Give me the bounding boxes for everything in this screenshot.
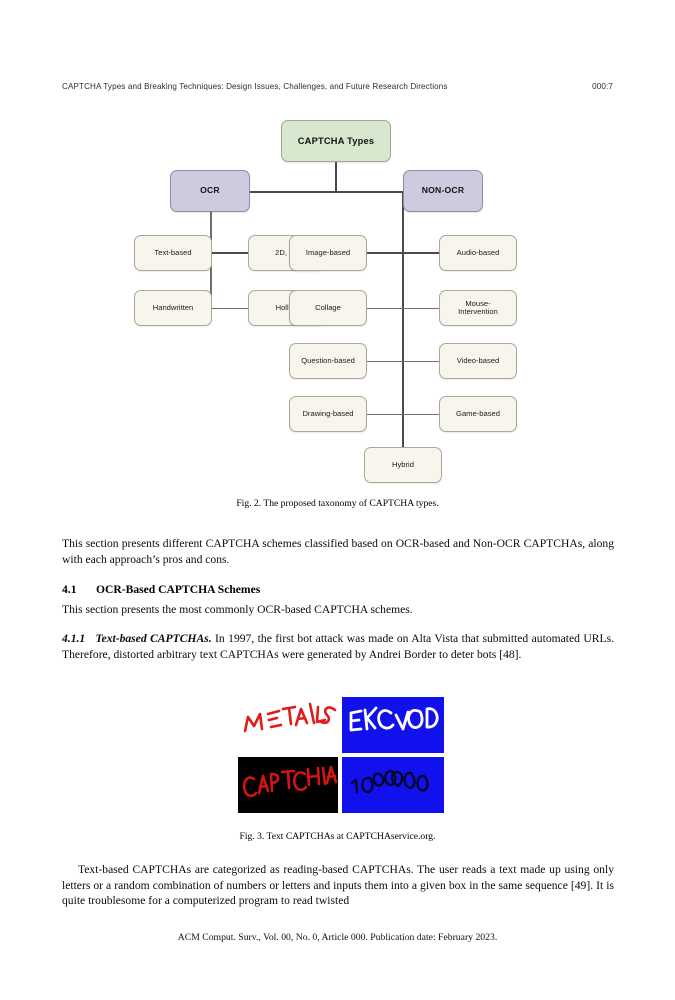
node-non-ocr[interactable]: NON-OCR bbox=[403, 170, 483, 212]
running-head-title: CAPTCHA Types and Breaking Techniques: D… bbox=[62, 82, 448, 91]
subsection-title: Text-based CAPTCHAs. bbox=[96, 632, 212, 645]
node-game-based-label: Game-based bbox=[456, 410, 500, 419]
subsection-4-1-1: 4.1.1 Text-based CAPTCHAs. In 1997, the … bbox=[62, 631, 614, 662]
captcha-sample-digits bbox=[342, 757, 444, 813]
document-page: CAPTCHA Types and Breaking Techniques: D… bbox=[0, 0, 675, 1000]
connector-nonocr-row1 bbox=[365, 252, 441, 254]
running-head: CAPTCHA Types and Breaking Techniques: D… bbox=[62, 82, 613, 91]
page-folio: 000:7 bbox=[592, 82, 613, 91]
node-ocr[interactable]: OCR bbox=[170, 170, 250, 212]
node-image-based[interactable]: Image-based bbox=[289, 235, 367, 271]
node-audio-based-label: Audio-based bbox=[457, 249, 500, 258]
node-ocr-label: OCR bbox=[200, 186, 220, 196]
node-text-based[interactable]: Text-based bbox=[134, 235, 212, 271]
node-non-ocr-label: NON-OCR bbox=[422, 186, 464, 196]
subsection-number: 4.1.1 bbox=[62, 632, 85, 645]
connector-nonocr-spine bbox=[402, 192, 404, 462]
node-drawing-based[interactable]: Drawing-based bbox=[289, 396, 367, 432]
connector-nonocr-row3 bbox=[365, 361, 441, 362]
connector-root-to-spine bbox=[335, 162, 337, 192]
closing-paragraph: Text-based CAPTCHAs are categorized as r… bbox=[62, 862, 614, 909]
figure-2-taxonomy-diagram: CAPTCHA Types OCR NON-OCR Text-based 2D,… bbox=[62, 112, 613, 482]
captcha-sample-captcha bbox=[238, 757, 338, 813]
taxonomy-diagram-canvas: CAPTCHA Types OCR NON-OCR Text-based 2D,… bbox=[62, 112, 613, 482]
connector-nonocr-row4 bbox=[365, 414, 441, 415]
node-captcha-types-label: CAPTCHA Types bbox=[298, 136, 374, 146]
node-handwritten[interactable]: Handwritten bbox=[134, 290, 212, 326]
node-collage-label: Collage bbox=[315, 304, 341, 313]
node-handwritten-label: Handwritten bbox=[153, 304, 194, 313]
captcha-sample-ekcvod bbox=[342, 697, 444, 753]
captcha-sample-metals bbox=[238, 697, 338, 753]
node-game-based[interactable]: Game-based bbox=[439, 396, 517, 432]
node-image-based-label: Image-based bbox=[306, 249, 350, 258]
node-question-based[interactable]: Question-based bbox=[289, 343, 367, 379]
node-collage[interactable]: Collage bbox=[289, 290, 367, 326]
connector-nonocr-row2 bbox=[365, 308, 441, 309]
node-mouse-intervention[interactable]: Mouse- Intervention bbox=[439, 290, 517, 326]
node-hybrid-label: Hybrid bbox=[392, 461, 414, 470]
section-heading-4-1: 4.1OCR-Based CAPTCHA Schemes bbox=[62, 583, 614, 596]
node-video-based-label: Video-based bbox=[457, 357, 500, 366]
figure-3-caption: Fig. 3. Text CAPTCHAs at CAPTCHAservice.… bbox=[62, 831, 613, 842]
page-footer: ACM Comput. Surv., Vol. 00, No. 0, Artic… bbox=[62, 932, 613, 943]
node-mouse-intervention-label-line2: Intervention bbox=[458, 308, 498, 317]
section-title: OCR-Based CAPTCHA Schemes bbox=[96, 583, 260, 596]
intro-paragraph: This section presents different CAPTCHA … bbox=[62, 536, 614, 567]
node-video-based[interactable]: Video-based bbox=[439, 343, 517, 379]
section-number: 4.1 bbox=[62, 583, 96, 596]
node-audio-based[interactable]: Audio-based bbox=[439, 235, 517, 271]
figure-2-caption: Fig. 2. The proposed taxonomy of CAPTCHA… bbox=[62, 498, 613, 509]
section-paragraph: This section presents the most commonly … bbox=[62, 602, 614, 618]
node-captcha-types[interactable]: CAPTCHA Types bbox=[281, 120, 391, 162]
figure-3-captcha-samples bbox=[238, 697, 444, 813]
node-text-based-label: Text-based bbox=[154, 249, 191, 258]
node-drawing-based-label: Drawing-based bbox=[302, 410, 353, 419]
node-question-based-label: Question-based bbox=[301, 357, 355, 366]
node-hybrid[interactable]: Hybrid bbox=[364, 447, 442, 483]
